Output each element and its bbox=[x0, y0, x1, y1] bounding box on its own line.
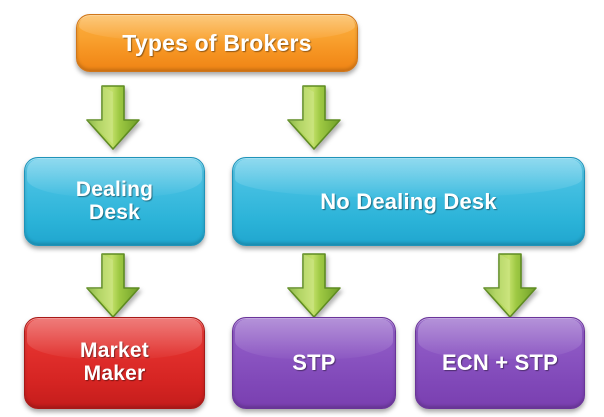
node-market-maker: Market Maker bbox=[24, 317, 205, 409]
arrow-down-root-to-no-dealing-desk bbox=[285, 84, 343, 152]
node-stp: STP bbox=[232, 317, 396, 409]
diagram-canvas: Types of Brokers bbox=[0, 0, 604, 417]
arrow-down-no-dealing-desk-to-stp bbox=[285, 252, 343, 320]
node-label: Market Maker bbox=[80, 340, 149, 385]
node-label: ECN + STP bbox=[442, 351, 558, 375]
arrow-down-root-to-dealing-desk bbox=[84, 84, 142, 152]
arrow-down-dealing-desk-to-market-maker bbox=[84, 252, 142, 320]
node-label: Types of Brokers bbox=[122, 31, 311, 56]
arrow-down-no-dealing-desk-to-ecn-stp bbox=[481, 252, 539, 320]
node-no-dealing-desk: No Dealing Desk bbox=[232, 157, 585, 246]
node-ecn-stp: ECN + STP bbox=[415, 317, 585, 409]
node-label: Dealing Desk bbox=[76, 179, 153, 224]
node-dealing-desk: Dealing Desk bbox=[24, 157, 205, 246]
node-label: No Dealing Desk bbox=[320, 190, 497, 214]
node-types-of-brokers: Types of Brokers bbox=[76, 14, 358, 72]
node-label: STP bbox=[292, 351, 335, 375]
